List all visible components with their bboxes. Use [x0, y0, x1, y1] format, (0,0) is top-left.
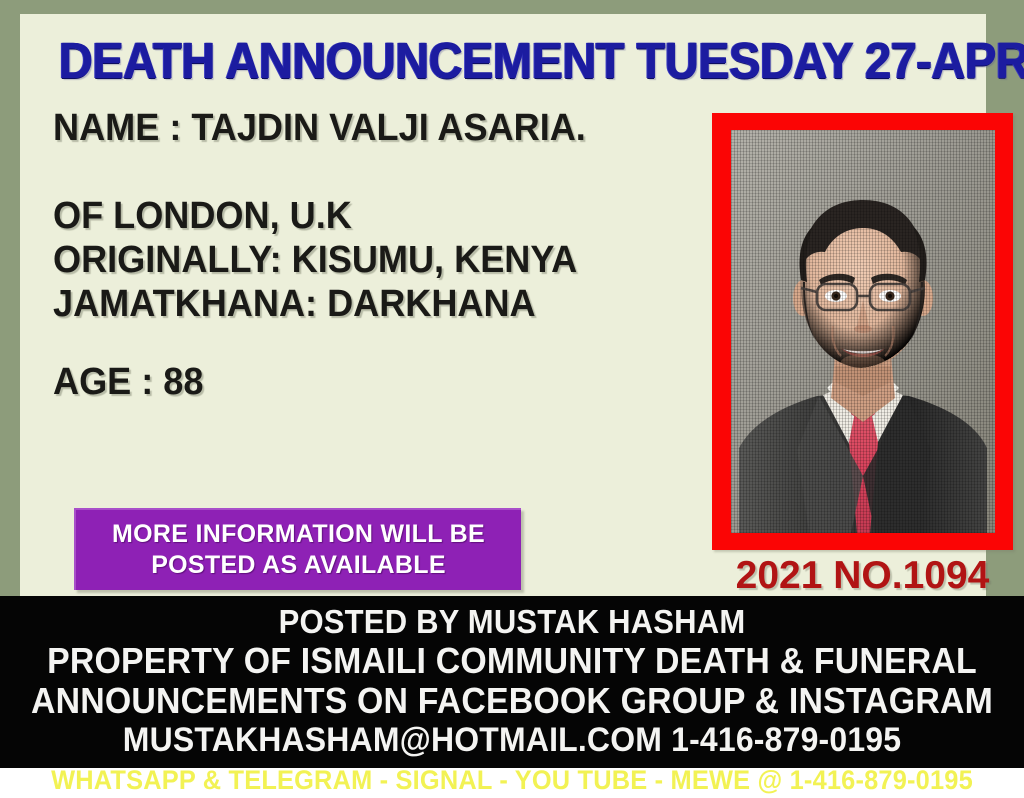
footer-credits-block: POSTED BY MUSTAK HASHAM PROPERTY OF ISMA…	[0, 596, 1024, 768]
footer-messaging-channels: WHATSAPP & TELEGRAM - SIGNAL - YOU TUBE …	[31, 762, 994, 798]
deceased-details-block: NAME : TAJDIN VALJI ASARIA. OF LONDON, U…	[53, 106, 693, 404]
portrait-photo	[731, 130, 995, 533]
death-announcement-poster: DEATH ANNOUNCEMENT TUESDAY 27-APR-2021 N…	[0, 0, 1024, 768]
more-information-notice: MORE INFORMATION WILL BE POSTED AS AVAIL…	[74, 508, 521, 590]
reference-number: 2021 NO.1094	[712, 554, 1013, 598]
portrait-illustration	[731, 130, 995, 533]
footer-announcements-line: ANNOUNCEMENTS ON FACEBOOK GROUP & INSTAG…	[31, 681, 994, 721]
deceased-name-line: NAME : TAJDIN VALJI ASARIA.	[53, 106, 661, 150]
jamatkhana-line: JAMATKHANA: DARKHANA	[53, 282, 661, 326]
origin-line: ORIGINALLY: KISUMU, KENYA	[53, 238, 661, 282]
page-title: DEATH ANNOUNCEMENT TUESDAY 27-APR-2021	[59, 34, 948, 88]
footer-email-phone: MUSTAKHASHAM@HOTMAIL.COM 1-416-879-0195	[31, 721, 994, 760]
age-line: AGE : 88	[53, 360, 661, 404]
notice-line-2: POSTED AS AVAILABLE	[151, 550, 446, 581]
notice-line-1: MORE INFORMATION WILL BE	[112, 519, 485, 550]
announcement-panel: DEATH ANNOUNCEMENT TUESDAY 27-APR-2021 N…	[20, 14, 986, 596]
footer-property-line: PROPERTY OF ISMAILI COMMUNITY DEATH & FU…	[31, 641, 994, 681]
residence-line: OF LONDON, U.K	[53, 194, 661, 238]
footer-posted-by: POSTED BY MUSTAK HASHAM	[31, 603, 994, 641]
portrait-frame	[712, 113, 1013, 550]
